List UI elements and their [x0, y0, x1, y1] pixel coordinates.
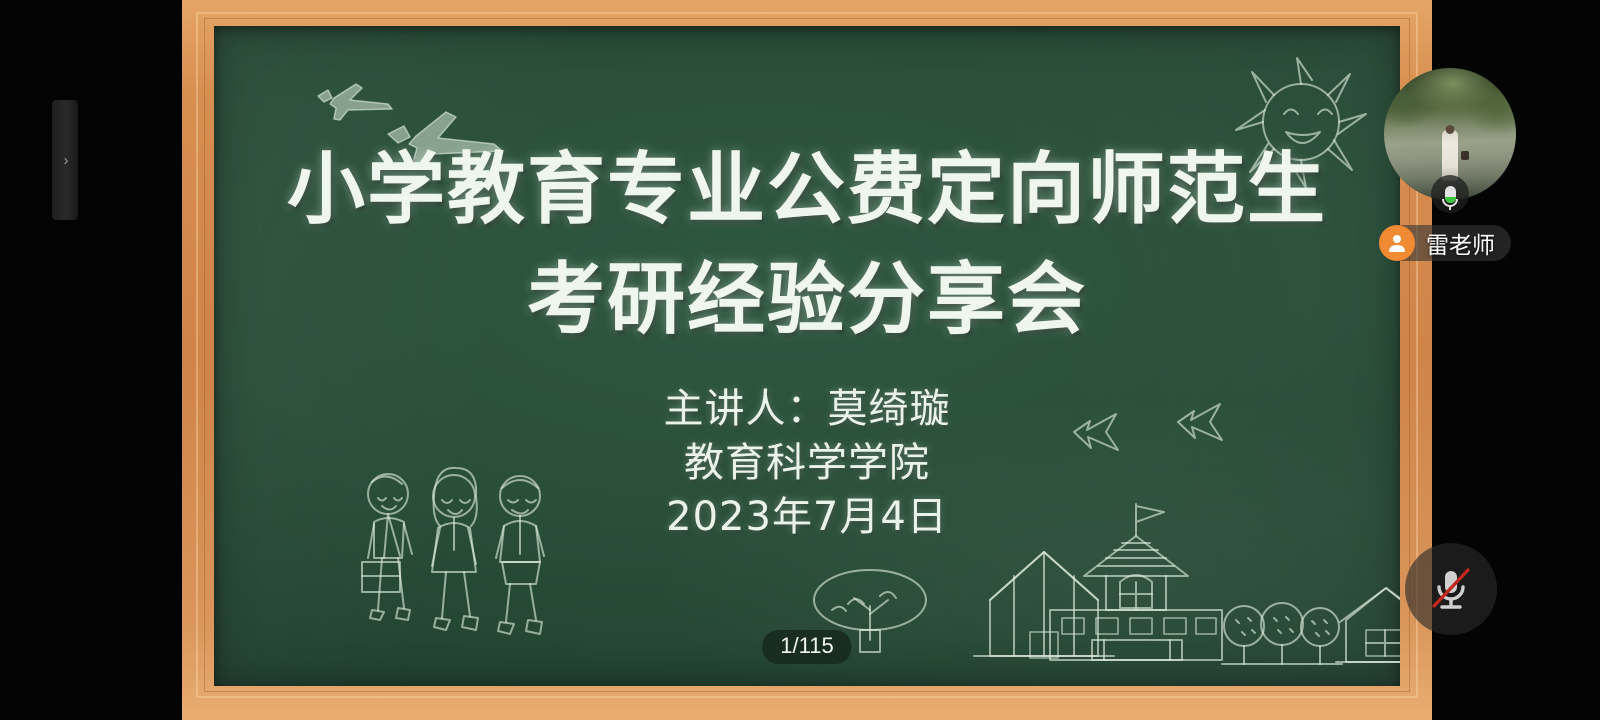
video-conference-screen: › — [0, 0, 1600, 720]
participant-video-tile[interactable] — [1384, 68, 1516, 200]
microphone-muted-icon — [1425, 563, 1477, 615]
person-icon — [1379, 225, 1415, 261]
mute-microphone-button[interactable] — [1405, 543, 1497, 635]
chalkboard: 小学教育专业公费定向师范生 考研经验分享会 主讲人：莫绮璇 教育科学学院 202… — [214, 26, 1400, 686]
bushes-drawing — [1222, 598, 1342, 670]
chevron-right-icon: › — [64, 153, 69, 168]
avatar-figure-head — [1446, 125, 1455, 134]
participant-name-chip: 雷老师 — [1379, 225, 1511, 261]
mic-post — [1449, 206, 1451, 210]
avatar-bag — [1461, 151, 1469, 160]
microphone-active-icon — [1431, 175, 1469, 213]
avatar-figure — [1442, 129, 1458, 181]
house-drawing — [974, 546, 1114, 662]
participant-name: 雷老师 — [1426, 226, 1495, 260]
slide-date: 2023年7月4日 — [214, 490, 1400, 544]
slide-presenter: 主讲人：莫绮璇 — [214, 382, 1400, 436]
slide-title-line-1: 小学教育专业公费定向师范生 — [214, 144, 1400, 236]
slide-organization: 教育科学学院 — [214, 436, 1400, 490]
shared-slide[interactable]: 小学教育专业公费定向师范生 考研经验分享会 主讲人：莫绮璇 教育科学学院 202… — [182, 0, 1432, 720]
slide-title-line-2: 考研经验分享会 — [214, 254, 1400, 346]
expand-side-panel-handle[interactable]: › — [52, 100, 78, 220]
slide-text-block: 小学教育专业公费定向师范生 考研经验分享会 主讲人：莫绮璇 教育科学学院 202… — [214, 144, 1400, 544]
page-indicator: 1/115 — [762, 630, 851, 664]
airplane-drawing — [310, 78, 400, 124]
small-house-drawing — [1336, 582, 1400, 670]
